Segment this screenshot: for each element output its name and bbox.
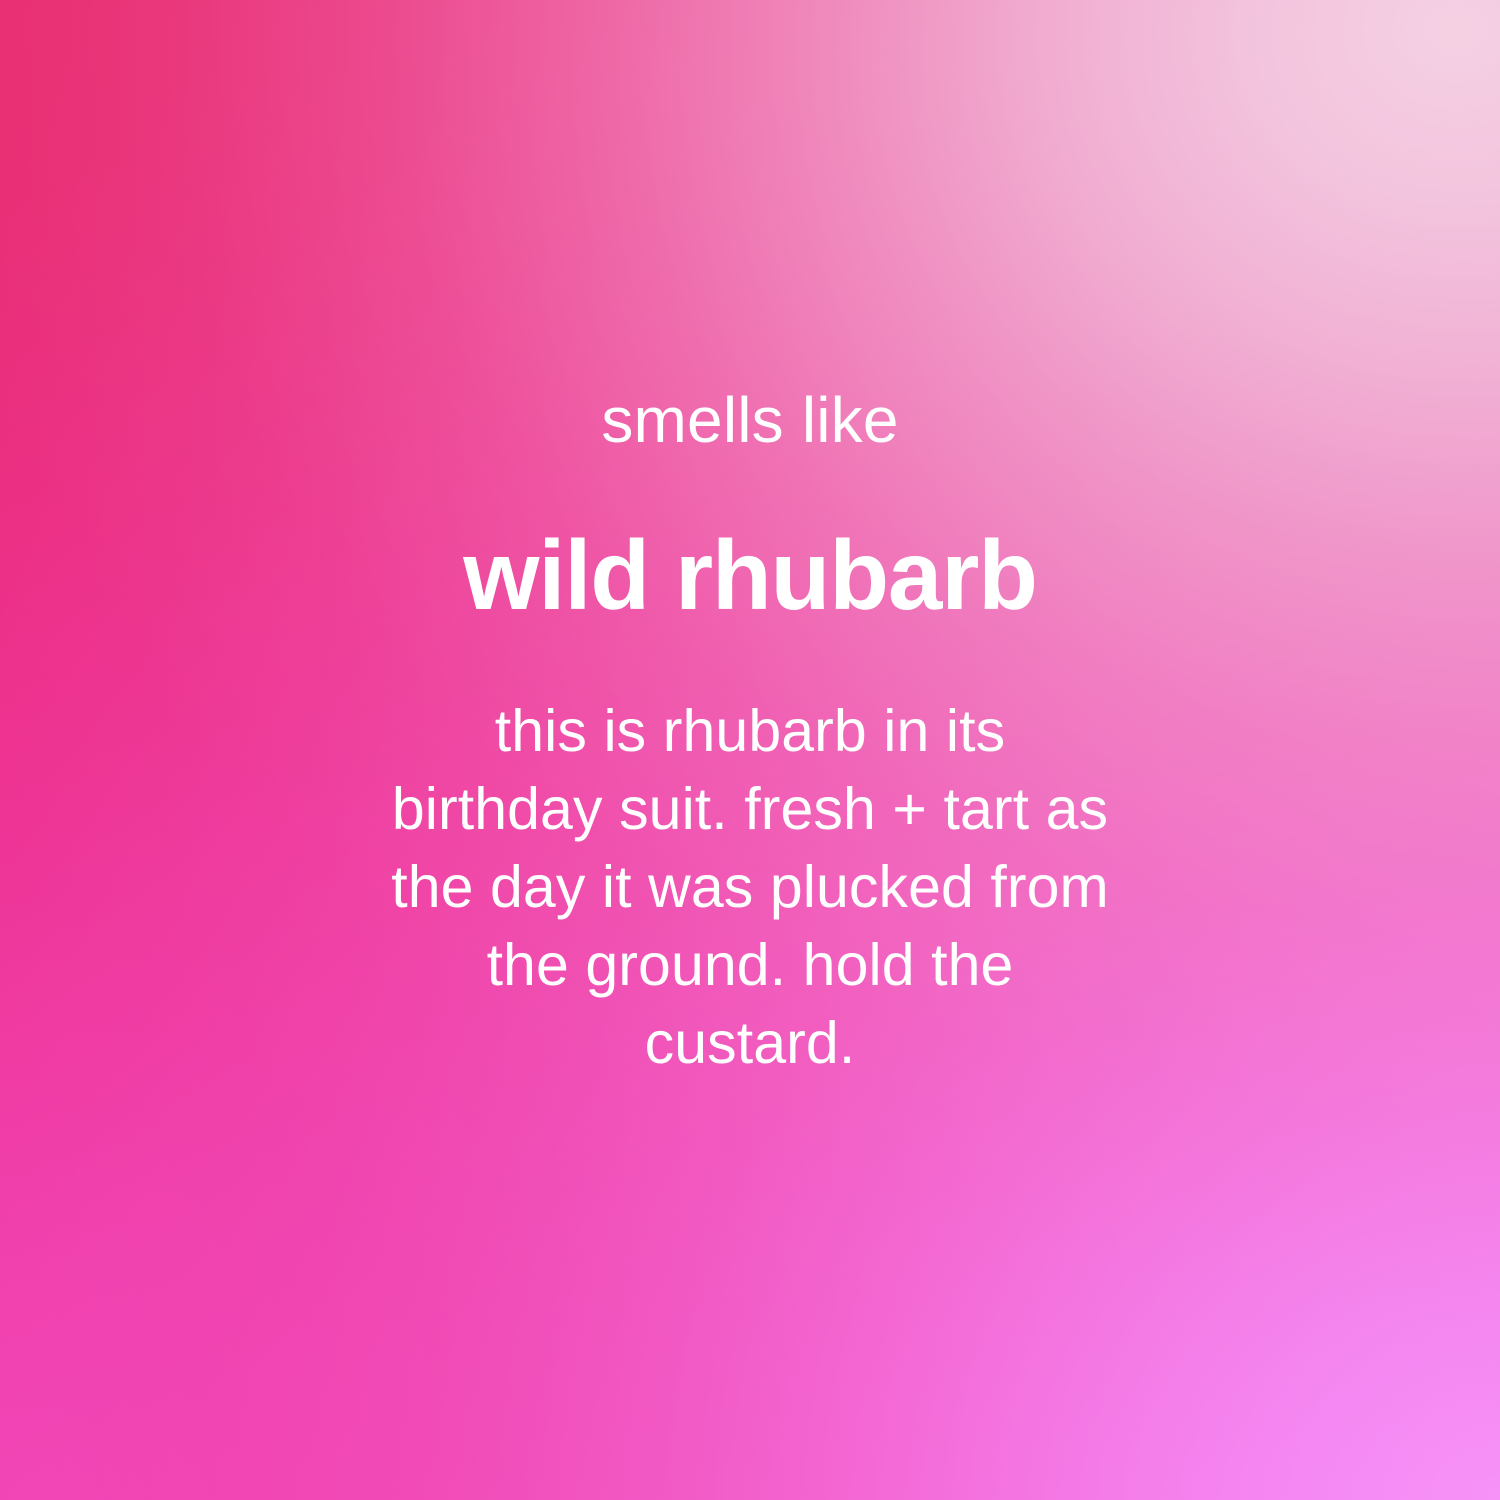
- scent-name-heading: wild rhubarb: [463, 526, 1037, 624]
- eyebrow-text: smells like: [601, 388, 898, 452]
- scent-card: smells like wild rhubarb this is rhubarb…: [0, 0, 1500, 1500]
- scent-description: this is rhubarb in its birthday suit. fr…: [385, 692, 1115, 1082]
- scent-copy-block: smells like wild rhubarb this is rhubarb…: [0, 388, 1500, 1082]
